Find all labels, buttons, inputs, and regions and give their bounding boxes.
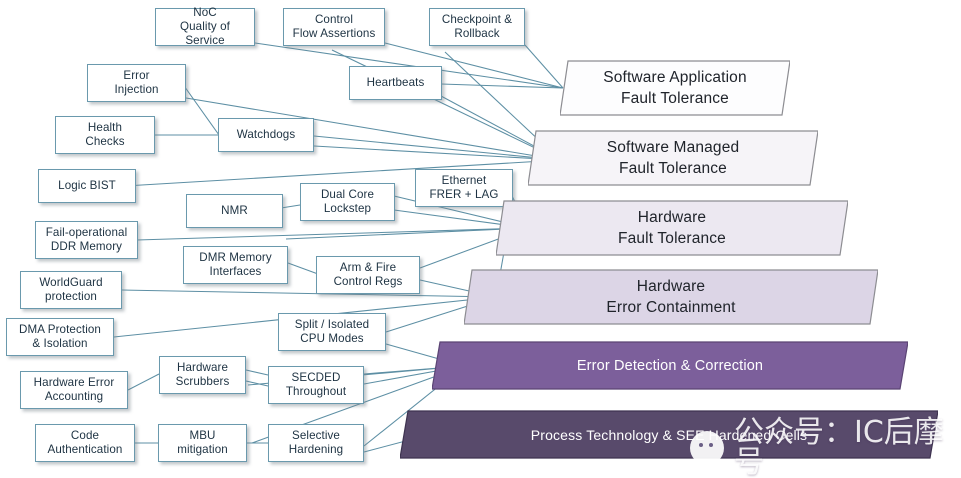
pyramid-layer-label: Software Managed Fault Tolerance (607, 137, 740, 179)
feature-box-split-cpu[interactable]: Split / Isolated CPU Modes (278, 313, 386, 351)
feature-box-watchdogs[interactable]: Watchdogs (218, 118, 314, 152)
feature-box-nmr[interactable]: NMR (186, 194, 283, 228)
feature-box-fail-op-ddr[interactable]: Fail-operational DDR Memory (35, 221, 138, 259)
pyramid-layer-label: Hardware Fault Tolerance (618, 207, 726, 249)
feature-label: Error Injection (114, 69, 158, 97)
pyramid-layer-label: Hardware Error Containment (606, 276, 735, 318)
feature-label: Watchdogs (237, 128, 295, 142)
pyramid-layer-label: Software Application Fault Tolerance (603, 67, 746, 109)
feature-label: Checkpoint & Rollback (442, 13, 512, 41)
feature-label: Split / Isolated CPU Modes (295, 318, 369, 346)
feature-box-logic-bist[interactable]: Logic BIST (38, 169, 136, 203)
feature-box-error-injection[interactable]: Error Injection (87, 64, 186, 102)
feature-label: Control Flow Assertions (293, 13, 376, 41)
feature-box-control-flow[interactable]: Control Flow Assertions (283, 8, 385, 46)
feature-box-code-auth[interactable]: Code Authentication (35, 424, 135, 462)
feature-box-secded[interactable]: SECDED Throughout (268, 366, 364, 404)
feature-label: DMA Protection & Isolation (19, 323, 101, 351)
pyramid-layer-sw-app[interactable]: Software Application Fault Tolerance (560, 57, 790, 119)
feature-label: Hardware Error Accounting (34, 376, 115, 404)
feature-label: Ethernet FRER + LAG (430, 174, 499, 202)
feature-box-selective-hard[interactable]: Selective Hardening (268, 424, 364, 462)
pyramid-layer-label: Process Technology & SEE Hardened Cells (531, 426, 807, 445)
feature-label: Fail-operational DDR Memory (46, 226, 128, 254)
feature-label: MBU mitigation (177, 429, 228, 457)
pyramid-layer-hw-ec[interactable]: Hardware Error Containment (464, 266, 878, 328)
pyramid-layer-label: Error Detection & Correction (577, 357, 763, 376)
feature-box-arm-fire[interactable]: Arm & Fire Control Regs (316, 256, 420, 294)
feature-label: DMR Memory Interfaces (199, 251, 272, 279)
pyramid-layer-proc[interactable]: Process Technology & SEE Hardened Cells (400, 408, 938, 462)
feature-label: WorldGuard protection (39, 276, 102, 304)
feature-box-worldguard[interactable]: WorldGuard protection (20, 271, 122, 309)
feature-box-dual-core[interactable]: Dual Core Lockstep (300, 183, 395, 221)
feature-box-dmr-memory[interactable]: DMR Memory Interfaces (183, 246, 288, 284)
feature-label: Health Checks (85, 121, 124, 149)
feature-box-dma-protection[interactable]: DMA Protection & Isolation (6, 318, 114, 356)
feature-label: NoC Quality of Service (160, 6, 250, 48)
feature-box-health-checks[interactable]: Health Checks (55, 116, 155, 154)
feature-label: Selective Hardening (289, 429, 343, 457)
feature-label: Hardware Scrubbers (176, 361, 230, 389)
feature-label: NMR (221, 204, 248, 218)
feature-box-mbu[interactable]: MBU mitigation (158, 424, 247, 462)
feature-label: Logic BIST (58, 179, 116, 193)
feature-box-checkpoint[interactable]: Checkpoint & Rollback (429, 8, 525, 46)
feature-box-hw-scrubbers[interactable]: Hardware Scrubbers (159, 356, 246, 394)
feature-label: SECDED Throughout (286, 371, 346, 399)
pyramid-layer-hw-ft[interactable]: Hardware Fault Tolerance (496, 197, 848, 259)
feature-box-heartbeats[interactable]: Heartbeats (349, 66, 442, 100)
pyramid-layer-edc[interactable]: Error Detection & Correction (432, 339, 908, 393)
feature-box-hw-err-acct[interactable]: Hardware Error Accounting (20, 371, 128, 409)
feature-label: Code Authentication (48, 429, 123, 457)
feature-box-noc-qos[interactable]: NoC Quality of Service (155, 8, 255, 46)
feature-label: Dual Core Lockstep (321, 188, 374, 216)
feature-label: Heartbeats (367, 76, 425, 90)
diagram-canvas: Software Application Fault Tolerance Sof… (0, 0, 961, 478)
feature-label: Arm & Fire Control Regs (334, 261, 403, 289)
pyramid-layer-sw-mgd[interactable]: Software Managed Fault Tolerance (528, 127, 818, 189)
